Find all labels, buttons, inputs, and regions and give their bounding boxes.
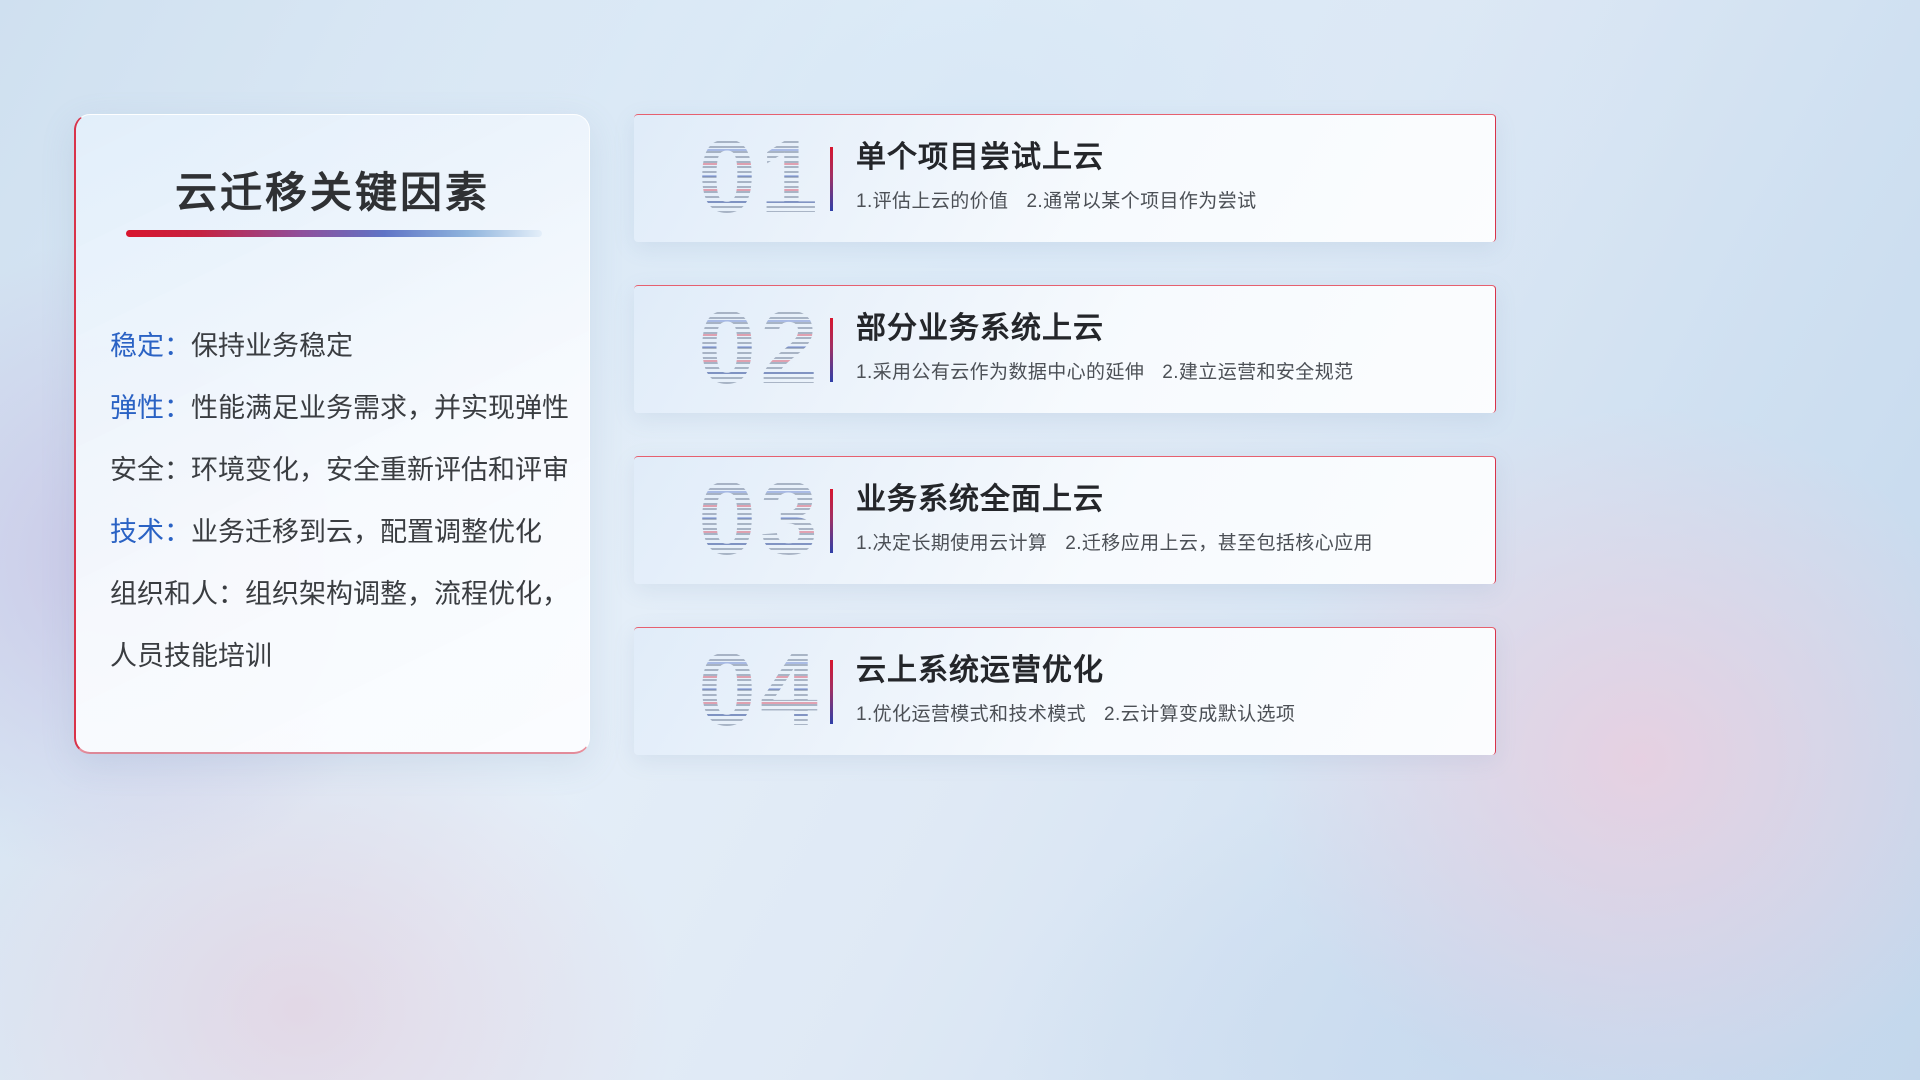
list-item-text: 环境变化，安全重新评估和评审 — [191, 455, 569, 485]
stage-card[interactable]: 02 02 部分业务系统上云 1.采用公有云作为数据中心的延伸2.建立运营和安全… — [634, 285, 1496, 413]
migration-stage-cards: 01 01 单个项目尝试上云 1.评估上云的价值2.通常以某个项目作为尝试 02… — [634, 114, 1496, 798]
stage-description: 1.评估上云的价值2.通常以某个项目作为尝试 — [856, 189, 1477, 215]
stage-title: 单个项目尝试上云 — [856, 137, 1477, 179]
list-item-text: 人员技能培训 — [110, 641, 272, 671]
stage-description: 1.采用公有云作为数据中心的延伸2.建立运营和安全规范 — [856, 360, 1477, 386]
list-item-label: 组织和人： — [110, 579, 245, 609]
key-factors-panel: 云迁移关键因素 稳定：保持业务稳定 弹性：性能满足业务需求，并实现弹性 安全：环… — [74, 114, 590, 754]
stage-accent-bar — [830, 147, 833, 211]
stage-title: 业务系统全面上云 — [856, 479, 1477, 521]
list-item-label: 弹性： — [110, 393, 191, 423]
stage-desc-part-2: 2.云计算变成默认选项 — [1104, 704, 1295, 725]
list-item: 人员技能培训 — [110, 625, 571, 687]
stage-desc-part-1: 1.优化运营模式和技术模式 — [856, 704, 1086, 725]
list-item: 技术：业务迁移到云，配置调整优化 — [110, 501, 571, 563]
list-item-label: 安全： — [110, 455, 191, 485]
list-item-text: 性能满足业务需求，并实现弹性 — [191, 393, 569, 423]
stage-desc-part-1: 1.采用公有云作为数据中心的延伸 — [856, 362, 1144, 383]
stage-accent-bar — [830, 318, 833, 382]
stage-card-body: 云上系统运营优化 1.优化运营模式和技术模式2.云计算变成默认选项 — [856, 650, 1477, 728]
stage-card-body: 业务系统全面上云 1.决定长期使用云计算2.迁移应用上云，甚至包括核心应用 — [856, 479, 1477, 557]
stage-card[interactable]: 03 03 业务系统全面上云 1.决定长期使用云计算2.迁移应用上云，甚至包括核… — [634, 456, 1496, 584]
stage-title: 部分业务系统上云 — [856, 308, 1477, 350]
title-underline-accent — [126, 230, 542, 237]
stage-desc-part-2: 2.迁移应用上云，甚至包括核心应用 — [1065, 533, 1373, 554]
stage-card-body: 部分业务系统上云 1.采用公有云作为数据中心的延伸2.建立运营和安全规范 — [856, 308, 1477, 386]
stage-accent-bar — [830, 660, 833, 724]
list-item-text: 组织架构调整，流程优化， — [245, 579, 569, 609]
stage-description: 1.优化运营模式和技术模式2.云计算变成默认选项 — [856, 702, 1477, 728]
stage-description: 1.决定长期使用云计算2.迁移应用上云，甚至包括核心应用 — [856, 531, 1477, 557]
list-item-label: 稳定： — [110, 331, 191, 361]
stage-desc-part-2: 2.建立运营和安全规范 — [1162, 362, 1353, 383]
list-item: 组织和人：组织架构调整，流程优化， — [110, 563, 571, 625]
list-item: 稳定：保持业务稳定 — [110, 315, 571, 377]
stage-card[interactable]: 01 01 单个项目尝试上云 1.评估上云的价值2.通常以某个项目作为尝试 — [634, 114, 1496, 242]
stage-desc-part-1: 1.决定长期使用云计算 — [856, 533, 1047, 554]
stage-accent-bar — [830, 489, 833, 553]
stage-desc-part-2: 2.通常以某个项目作为尝试 — [1026, 191, 1256, 212]
stage-card-body: 单个项目尝试上云 1.评估上云的价值2.通常以某个项目作为尝试 — [856, 137, 1477, 215]
list-item: 弹性：性能满足业务需求，并实现弹性 — [110, 377, 571, 439]
list-item-label: 技术： — [110, 517, 191, 547]
list-item-text: 保持业务稳定 — [191, 331, 353, 361]
slide-canvas: 云迁移关键因素 稳定：保持业务稳定 弹性：性能满足业务需求，并实现弹性 安全：环… — [0, 0, 1920, 1080]
stage-title: 云上系统运营优化 — [856, 650, 1477, 692]
key-factors-list: 稳定：保持业务稳定 弹性：性能满足业务需求，并实现弹性 安全：环境变化，安全重新… — [110, 315, 571, 687]
stage-card[interactable]: 04 04 云上系统运营优化 1.优化运营模式和技术模式2.云计算变成默认选项 — [634, 627, 1496, 755]
list-item-text: 业务迁移到云，配置调整优化 — [191, 517, 542, 547]
list-item: 安全：环境变化，安全重新评估和评审 — [110, 439, 571, 501]
stage-desc-part-1: 1.评估上云的价值 — [856, 191, 1008, 212]
page-title: 云迁移关键因素 — [76, 159, 589, 220]
